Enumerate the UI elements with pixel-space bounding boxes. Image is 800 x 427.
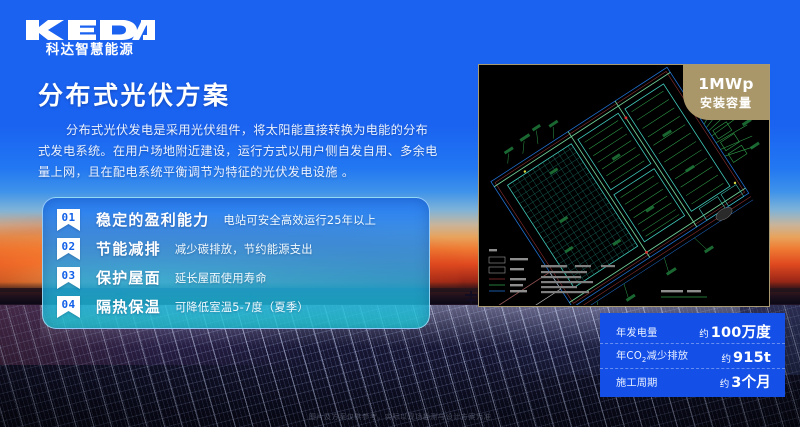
feature-description: 延长屋面使用寿命 bbox=[175, 270, 267, 286]
feature-number: 03 bbox=[57, 269, 80, 282]
stat-approx: 约 bbox=[721, 354, 731, 365]
feature-description: 电站可安全高效运行25年以上 bbox=[223, 212, 376, 228]
feature-number-badge-icon: 03 bbox=[57, 267, 80, 289]
stat-value: 约3个月 bbox=[720, 371, 771, 392]
feature-number: 02 bbox=[57, 240, 80, 253]
feature-number-badge-icon: 04 bbox=[57, 296, 80, 318]
page-title: 分布式光伏方案 bbox=[38, 76, 231, 112]
stat-value: 约915t bbox=[721, 347, 771, 366]
stat-row-co2-reduction: 年CO2减少排放 约915t bbox=[600, 344, 785, 369]
feature-row[interactable]: 04 隔热保温 可降低室温5-7度（夏季） bbox=[43, 292, 429, 321]
stat-row-annual-generation: 年发电量 约100万度 bbox=[600, 319, 785, 344]
stat-approx: 约 bbox=[699, 329, 709, 340]
brand-logo-subtitle: 科达智慧能源 bbox=[24, 44, 156, 58]
feature-description: 可降低室温5-7度（夏季） bbox=[175, 299, 309, 315]
keda-wordmark-icon bbox=[24, 17, 156, 43]
feature-number-badge-icon: 01 bbox=[57, 209, 80, 231]
feature-name: 保护屋面 bbox=[96, 267, 161, 288]
stat-label: 年CO2减少排放 bbox=[616, 347, 688, 364]
capacity-label: 安装容量 bbox=[700, 94, 752, 111]
feature-name: 节能减排 bbox=[96, 238, 161, 259]
stat-label: 年发电量 bbox=[616, 324, 658, 339]
brand-logo: 科达智慧能源 bbox=[24, 17, 156, 58]
feature-number: 01 bbox=[57, 211, 80, 224]
stat-approx: 约 bbox=[720, 379, 730, 390]
stat-value: 约100万度 bbox=[699, 321, 771, 342]
intro-paragraph: 分布式光伏发电是采用光伏组件，将太阳能直接转换为电能的分布式发电系统。在用户场地… bbox=[38, 120, 438, 183]
stat-row-construction-period: 施工周期 约3个月 bbox=[600, 369, 785, 393]
feature-row[interactable]: 01 稳定的盈利能力 电站可安全高效运行25年以上 bbox=[43, 205, 429, 234]
feature-description: 减少碳排放，节约能源支出 bbox=[175, 241, 313, 257]
feature-row[interactable]: 03 保护屋面 延长屋面使用寿命 bbox=[43, 263, 429, 292]
feature-row[interactable]: 02 节能减排 减少碳排放，节约能源支出 bbox=[43, 234, 429, 263]
feature-list-panel: 01 稳定的盈利能力 电站可安全高效运行25年以上 02 节能减排 减少碳排放，… bbox=[42, 197, 430, 329]
feature-name: 稳定的盈利能力 bbox=[96, 209, 209, 230]
stat-label: 施工周期 bbox=[616, 374, 658, 389]
feature-number-badge-icon: 02 bbox=[57, 238, 80, 260]
slide-root: 科达智慧能源 分布式光伏方案 分布式光伏发电是采用光伏组件，将太阳能直接转换为电… bbox=[0, 0, 800, 427]
stat-number: 915t bbox=[733, 350, 771, 366]
capacity-badge: 1MWp 安装容量 bbox=[683, 65, 769, 120]
capacity-value: 1MWp bbox=[698, 75, 754, 93]
stat-number: 100万度 bbox=[711, 325, 771, 341]
stat-number: 3个月 bbox=[731, 375, 771, 391]
stats-panel: 年发电量 约100万度 年CO2减少排放 约915t 施工周期 约3个月 bbox=[600, 313, 785, 397]
feature-number: 04 bbox=[57, 298, 80, 311]
cad-site-plan-image: 1MWp 安装容量 bbox=[478, 64, 770, 307]
feature-name: 隔热保温 bbox=[96, 296, 161, 317]
